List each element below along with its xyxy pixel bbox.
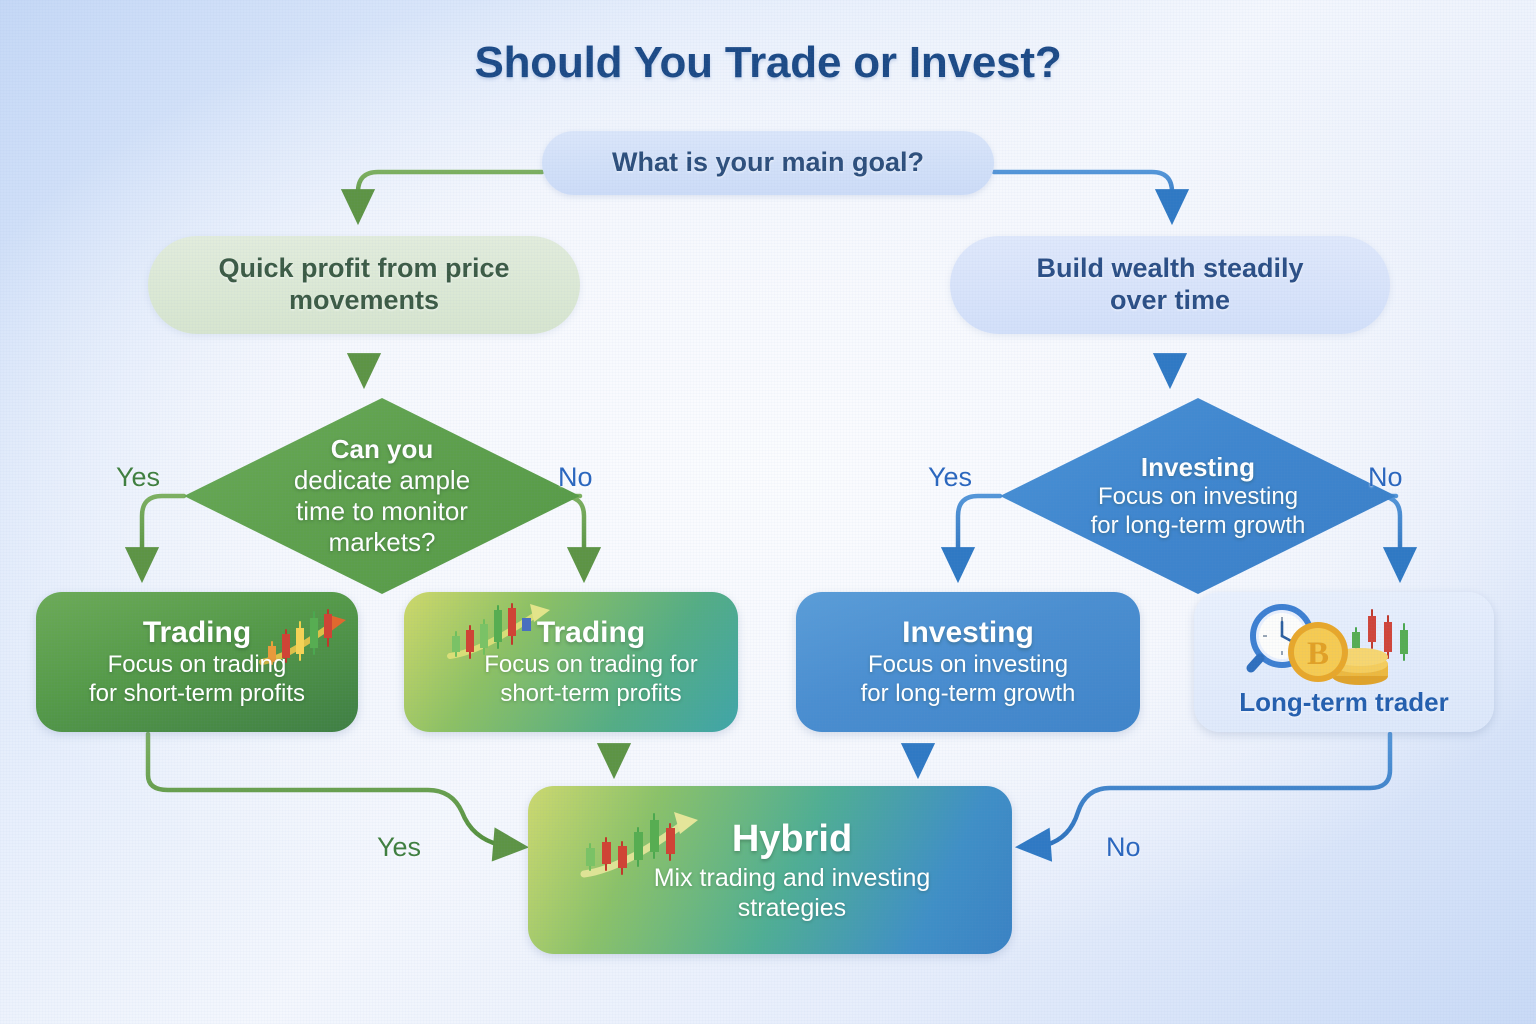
node-outcome-hybrid[interactable]: Hybrid Mix trading and investing strateg… <box>528 786 1012 954</box>
edge-label-time-yes: Yes <box>116 462 160 493</box>
node-outcome-trading-a[interactable]: Trading Focus on trading for short-term … <box>36 592 358 732</box>
outcome-investing-title: Investing <box>902 615 1034 651</box>
edge-root-to-quick-profit <box>358 172 542 208</box>
outcome-hybrid-line-2: strategies <box>738 893 846 923</box>
outcome-hybrid-text: Hybrid Mix trading and investing strateg… <box>528 817 1012 923</box>
decision-time-line-3: time to monitor <box>296 496 468 527</box>
outcome-trading-a-line-2: for short-term profits <box>89 680 305 709</box>
root-question-label: What is your main goal? <box>612 147 924 179</box>
node-decision-investing[interactable]: Investing Focus on investing for long-te… <box>1000 398 1396 594</box>
outcome-hybrid-title: Hybrid <box>732 817 852 863</box>
node-outcome-longterm-trader[interactable]: B Long-term trader <box>1194 592 1494 732</box>
node-decision-monitor-time[interactable]: Can you dedicate ample time to monitor m… <box>184 398 580 594</box>
edge-label-hybrid-no: No <box>1106 832 1141 863</box>
outcome-hybrid-line-1: Mix trading and investing <box>654 863 931 893</box>
node-outcome-trading-b[interactable]: Trading Focus on trading for short-term … <box>404 592 738 732</box>
node-goal-build-wealth[interactable]: Build wealth steadily over time <box>950 236 1390 334</box>
outcome-trading-b-text: Trading Focus on trading for short-term … <box>404 615 738 709</box>
outcome-trading-b-line-2: short-term profits <box>500 680 681 709</box>
outcome-trading-b-title: Trading <box>537 615 645 651</box>
edge-label-time-no: No <box>558 462 593 493</box>
decision-time-line-2: dedicate ample <box>294 465 470 496</box>
outcome-trading-a-title: Trading <box>143 615 251 651</box>
edge-label-invest-yes: Yes <box>928 462 972 493</box>
outcome-trading-a-text: Trading Focus on trading for short-term … <box>36 615 358 709</box>
decision-invest-line-2: for long-term growth <box>1091 512 1306 541</box>
outcome-investing-line-1: Focus on investing <box>868 651 1068 680</box>
node-root-question[interactable]: What is your main goal? <box>542 131 994 195</box>
outcome-investing-text: Investing Focus on investing for long-te… <box>796 615 1140 709</box>
decision-time-line-4: markets? <box>329 527 436 558</box>
goal-build-wealth-line-1: Build wealth steadily over time <box>1015 253 1325 317</box>
edge-label-hybrid-yes: Yes <box>377 832 421 863</box>
clock-bitcoin-coins-candlestick-icon: B <box>1238 602 1458 688</box>
page-title: Should You Trade or Invest? <box>0 38 1536 88</box>
node-outcome-investing[interactable]: Investing Focus on investing for long-te… <box>796 592 1140 732</box>
edge-root-to-build-wealth <box>994 172 1172 208</box>
decision-invest-title: Investing <box>1141 452 1255 483</box>
outcome-trading-b-line-1: Focus on trading for <box>484 651 697 680</box>
edge-trading-a-to-hybrid <box>148 734 512 846</box>
edge-time-yes-to-trading-a <box>142 496 184 566</box>
edge-label-invest-no: No <box>1368 462 1403 493</box>
decision-time-line-1: Can you <box>331 434 434 465</box>
decision-monitor-time-label: Can you dedicate ample time to monitor m… <box>184 398 580 594</box>
goal-quick-profit-line-1: Quick profit from price movements <box>199 253 529 317</box>
outcome-trading-a-line-1: Focus on trading <box>108 651 287 680</box>
outcome-investing-line-2: for long-term growth <box>861 680 1076 709</box>
outcome-longterm-trader-title: Long-term trader <box>1239 687 1448 718</box>
node-goal-quick-profit[interactable]: Quick profit from price movements <box>148 236 580 334</box>
edge-invest-yes-to-investing <box>958 496 1000 566</box>
diagram-canvas: Should You Trade or Invest? <box>0 0 1536 1024</box>
svg-text:B: B <box>1307 636 1329 672</box>
edge-longterm-to-hybrid <box>1032 734 1390 846</box>
decision-invest-line-1: Focus on investing <box>1098 483 1298 512</box>
decision-investing-label: Investing Focus on investing for long-te… <box>1000 398 1396 594</box>
